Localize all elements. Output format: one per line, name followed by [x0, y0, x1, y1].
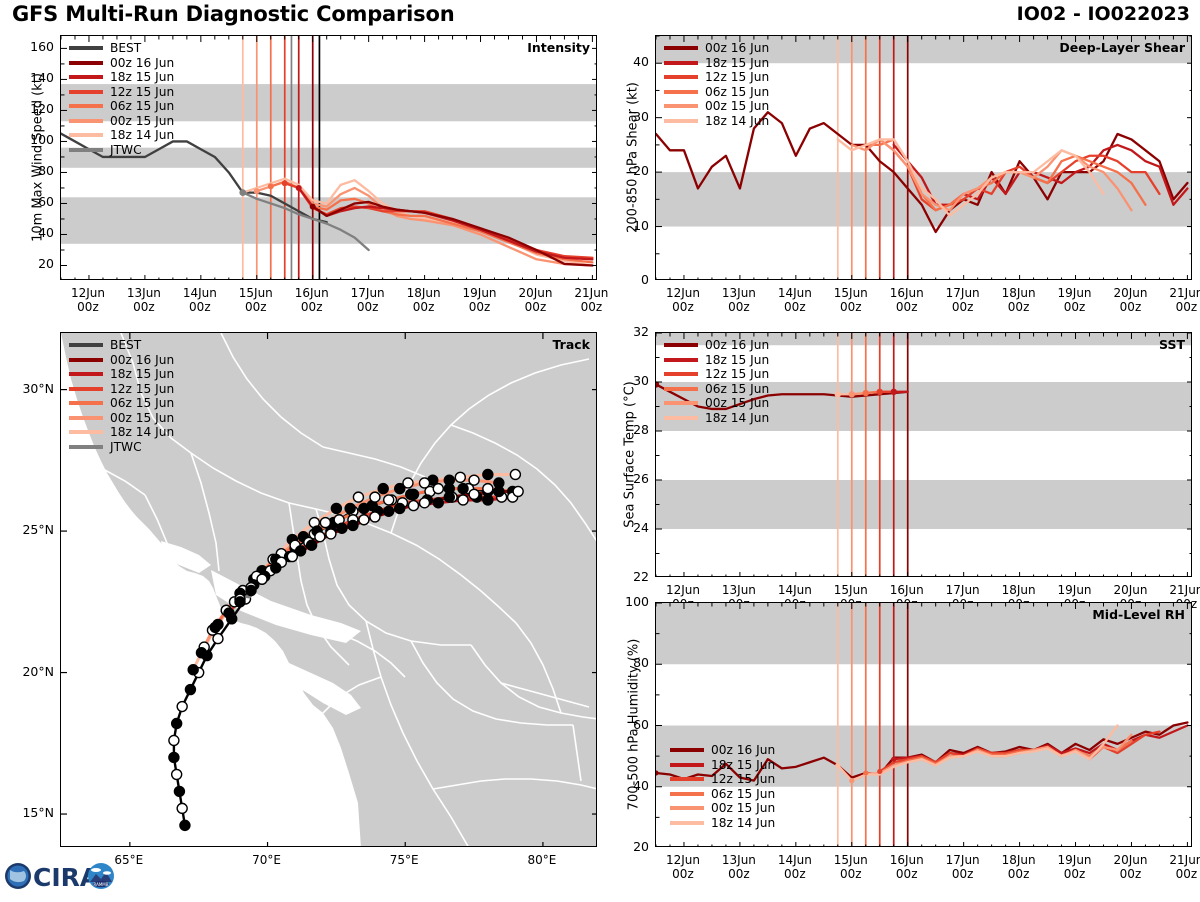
legend-swatch-run_18z14 — [69, 430, 103, 434]
x-tick-day: 14Jun — [183, 286, 217, 300]
x-tick-label: 13Jun00z — [709, 853, 769, 881]
x-tick-day: 18Jun — [407, 286, 441, 300]
x-tick-hour: 00z — [1176, 867, 1198, 881]
legend-swatch-run_18z14 — [664, 416, 698, 420]
series-marker — [282, 180, 288, 186]
intensity-panel: Intensity BEST00z 16 Jun18z 15 Jun12z 15… — [60, 35, 597, 280]
shear-panel: Deep-Layer Shear 00z 16 Jun18z 15 Jun12z… — [655, 35, 1192, 280]
legend-swatch-run_06z15 — [664, 90, 698, 94]
track-marker — [174, 786, 184, 796]
legend-item-run_00z16: 00z 16 Jun — [670, 743, 775, 758]
legend-label-run_12z15: 12z 15 Jun — [711, 772, 775, 786]
track-marker — [359, 515, 369, 525]
legend-swatch-run_18z15 — [69, 75, 103, 79]
track-marker — [370, 512, 380, 522]
legend-item-run_18z15: 18z 15 Jun — [69, 70, 174, 85]
x-tick-day: 18Jun — [1002, 286, 1036, 300]
legend-item-run_18z14: 18z 14 Jun — [664, 411, 769, 426]
y-tick-label: 100 — [14, 132, 54, 147]
y-tick-label: 60 — [609, 717, 649, 732]
x-tick-label: 16Jun00z — [877, 853, 937, 881]
track-marker — [331, 503, 341, 513]
legend-item-run_00z16: 00z 16 Jun — [664, 41, 769, 56]
legend-swatch-run_00z15 — [664, 104, 698, 108]
legend-item-run_00z15: 00z 15 Jun — [664, 396, 769, 411]
track-marker — [210, 622, 220, 632]
track-marker — [185, 685, 195, 695]
track-marker — [235, 597, 245, 607]
x-tick-label: 17Jun00z — [933, 286, 993, 314]
x-tick-day: 17Jun — [946, 583, 980, 597]
x-tick-label: 21Jun00z — [1156, 853, 1200, 881]
x-tick-day: 20Jun — [1113, 286, 1147, 300]
sst-legend: 00z 16 Jun18z 15 Jun12z 15 Jun06z 15 Jun… — [664, 338, 769, 425]
track-marker — [287, 552, 297, 562]
legend-label-run_18z15: 18z 15 Jun — [711, 758, 775, 772]
y-tick-label: 28 — [609, 422, 649, 437]
legend-item-run_06z15: 06z 15 Jun — [670, 787, 775, 802]
legend-swatch-best — [69, 343, 103, 347]
x-tick-hour: 00z — [672, 867, 694, 881]
x-tick-day: 12Jun — [666, 583, 700, 597]
x-tick-day: 12Jun — [71, 286, 105, 300]
x-tick-hour: 00z — [581, 300, 603, 314]
x-tick-day: 19Jun — [463, 286, 497, 300]
track-marker — [169, 752, 179, 762]
legend-label-run_00z16: 00z 16 Jun — [705, 338, 769, 352]
track-marker — [224, 608, 234, 618]
track-marker — [348, 520, 358, 530]
track-marker — [395, 503, 405, 513]
y-tick-label: 80 — [14, 163, 54, 178]
legend-label-run_00z15: 00z 15 Jun — [711, 801, 775, 815]
legend-label-run_18z14: 18z 14 Jun — [705, 411, 769, 425]
legend-item-run_18z15: 18z 15 Jun — [69, 367, 174, 382]
track-panel: Track BEST00z 16 Jun18z 15 Jun12z 15 Jun… — [60, 332, 597, 847]
legend-item-best: BEST — [69, 338, 174, 353]
legend-swatch-run_18z15 — [670, 763, 704, 767]
x-tick-label: 21Jun00z — [561, 286, 621, 314]
legend-label-run_18z15: 18z 15 Jun — [705, 353, 769, 367]
track-marker — [326, 529, 336, 539]
x-tick-label: 19Jun00z — [450, 286, 510, 314]
x-tick-hour: 00z — [245, 300, 267, 314]
legend-label-run_18z15: 18z 15 Jun — [110, 70, 174, 84]
track-marker — [177, 803, 187, 813]
shear-panel-title: Deep-Layer Shear — [1059, 40, 1185, 55]
series-marker — [835, 763, 840, 768]
x-tick-label: 80°E — [512, 853, 572, 867]
track-marker — [433, 484, 443, 494]
series-marker — [877, 389, 883, 395]
series-marker — [254, 188, 260, 194]
legend-item-run_18z14: 18z 14 Jun — [670, 816, 775, 831]
x-tick-label: 18Jun00z — [989, 853, 1049, 881]
track-marker — [378, 484, 388, 494]
legend-item-run_06z15: 06z 15 Jun — [69, 99, 174, 114]
x-tick-label: 13Jun00z — [709, 286, 769, 314]
x-tick-label: 15Jun00z — [226, 286, 286, 314]
legend-swatch-run_18z15 — [664, 358, 698, 362]
legend-label-run_00z15: 00z 15 Jun — [705, 396, 769, 410]
x-tick-day: 16Jun — [890, 583, 924, 597]
x-tick-label: 18Jun00z — [989, 286, 1049, 314]
x-tick-day: 13Jun — [722, 583, 756, 597]
x-tick-hour: 00z — [525, 300, 547, 314]
x-tick-hour: 00z — [952, 867, 974, 881]
track-marker — [510, 469, 520, 479]
legend-label-run_12z15: 12z 15 Jun — [705, 367, 769, 381]
series-marker — [891, 757, 896, 762]
series-marker — [863, 390, 869, 396]
x-tick-hour: 00z — [133, 300, 155, 314]
legend-label-run_18z14: 18z 14 Jun — [711, 816, 775, 830]
legend-swatch-jtwc — [69, 148, 103, 152]
legend-swatch-run_18z15 — [69, 372, 103, 376]
y-tick-label: 60 — [14, 194, 54, 209]
x-tick-day: 21Jun — [574, 286, 608, 300]
track-marker — [483, 469, 493, 479]
x-tick-label: 14Jun00z — [170, 286, 230, 314]
track-marker — [345, 503, 355, 513]
x-tick-day: 15Jun — [834, 286, 868, 300]
legend-swatch-run_12z15 — [670, 777, 704, 781]
track-marker — [353, 492, 363, 502]
x-tick-hour: 00z — [357, 300, 379, 314]
x-tick-hour: 00z — [469, 300, 491, 314]
x-tick-label: 17Jun00z — [338, 286, 398, 314]
x-tick-day: 14Jun — [778, 286, 812, 300]
track-marker — [307, 540, 317, 550]
y-tick-label: 80 — [609, 655, 649, 670]
track-marker — [420, 478, 430, 488]
track-marker — [433, 498, 443, 508]
legend-item-run_12z15: 12z 15 Jun — [670, 772, 775, 787]
legend-swatch-jtwc — [69, 445, 103, 449]
legend-item-jtwc: JTWC — [69, 143, 174, 158]
x-tick-hour: 00z — [896, 300, 918, 314]
y-tick-label: 32 — [609, 324, 649, 339]
legend-item-jtwc: JTWC — [69, 440, 174, 455]
legend-swatch-run_12z15 — [664, 75, 698, 79]
y-tick-label: 140 — [14, 70, 54, 85]
jtwc-marker — [239, 189, 246, 196]
legend-label-run_06z15: 06z 15 Jun — [711, 787, 775, 801]
y-tick-label: 120 — [14, 101, 54, 116]
track-marker — [395, 484, 405, 494]
x-tick-day: 13Jun — [127, 286, 161, 300]
track-marker — [444, 475, 454, 485]
legend-label-best: BEST — [110, 41, 141, 55]
legend-swatch-run_06z15 — [69, 104, 103, 108]
x-tick-day: 18Jun — [1002, 853, 1036, 867]
x-tick-label: 20Jun00z — [1100, 286, 1160, 314]
series-marker — [849, 778, 854, 783]
series-marker — [891, 389, 897, 395]
x-tick-day: 16Jun — [890, 853, 924, 867]
legend-label-run_06z15: 06z 15 Jun — [110, 396, 174, 410]
legend-label-run_00z15: 00z 15 Jun — [110, 114, 174, 128]
x-tick-hour: 00z — [1008, 300, 1030, 314]
legend-item-best: BEST — [69, 41, 174, 56]
x-tick-label: 20Jun00z — [505, 286, 565, 314]
legend-label-run_18z15: 18z 15 Jun — [705, 56, 769, 70]
x-tick-day: 16Jun — [890, 286, 924, 300]
x-tick-day: 13Jun — [722, 286, 756, 300]
legend-label-best: BEST — [110, 338, 141, 352]
track-panel-title: Track — [553, 337, 590, 352]
track-marker — [196, 648, 206, 658]
track-marker — [444, 492, 454, 502]
x-tick-label: 15Jun00z — [821, 853, 881, 881]
x-tick-hour: 00z — [784, 867, 806, 881]
track-marker — [469, 489, 479, 499]
track-marker — [408, 501, 418, 511]
legend-label-run_06z15: 06z 15 Jun — [705, 382, 769, 396]
track-marker — [408, 489, 418, 499]
legend-item-run_00z16: 00z 16 Jun — [664, 338, 769, 353]
x-tick-label: 15Jun00z — [821, 286, 881, 314]
x-tick-day: 15Jun — [834, 853, 868, 867]
legend-item-run_06z15: 06z 15 Jun — [664, 85, 769, 100]
track-marker — [257, 574, 267, 584]
legend-item-run_18z15: 18z 15 Jun — [664, 56, 769, 71]
legend-item-run_00z16: 00z 16 Jun — [69, 353, 174, 368]
legend-label-jtwc: JTWC — [110, 143, 142, 157]
y-tick-label: 40 — [609, 54, 649, 69]
track-marker — [359, 503, 369, 513]
y-tick-label: 30 — [609, 373, 649, 388]
x-tick-day: 19Jun — [1058, 853, 1092, 867]
y-tick-label: 40 — [609, 778, 649, 793]
x-tick-hour: 00z — [952, 300, 974, 314]
track-marker — [370, 492, 380, 502]
y-tick-label: 30°N — [2, 381, 54, 396]
legend-label-run_00z16: 00z 16 Jun — [705, 41, 769, 55]
x-tick-day: 17Jun — [351, 286, 385, 300]
x-tick-day: 16Jun — [295, 286, 329, 300]
x-tick-day: 18Jun — [1002, 583, 1036, 597]
track-marker — [513, 486, 523, 496]
x-tick-label: 14Jun00z — [765, 286, 825, 314]
y-tick-label: 22 — [609, 569, 649, 584]
x-tick-label: 12Jun00z — [58, 286, 118, 314]
y-tick-label: 20 — [609, 839, 649, 854]
x-tick-hour: 00z — [1064, 867, 1086, 881]
series-marker — [877, 769, 882, 774]
y-tick-label: 24 — [609, 520, 649, 535]
legend-item-run_18z14: 18z 14 Jun — [69, 128, 174, 143]
track-marker — [458, 495, 468, 505]
x-tick-hour: 00z — [1064, 300, 1086, 314]
x-tick-hour: 00z — [1008, 867, 1030, 881]
x-tick-day: 12Jun — [666, 853, 700, 867]
legend-swatch-run_06z15 — [664, 387, 698, 391]
x-tick-hour: 00z — [896, 867, 918, 881]
legend-item-run_06z15: 06z 15 Jun — [664, 382, 769, 397]
y-tick-label: 26 — [609, 471, 649, 486]
legend-item-run_12z15: 12z 15 Jun — [69, 85, 174, 100]
x-tick-hour: 00z — [672, 300, 694, 314]
legend-swatch-run_00z15 — [69, 119, 103, 123]
x-tick-day: 19Jun — [1058, 583, 1092, 597]
x-tick-label: 19Jun00z — [1045, 286, 1105, 314]
track-marker — [455, 472, 465, 482]
x-tick-day: 20Jun — [1113, 853, 1147, 867]
legend-swatch-run_18z14 — [670, 821, 704, 825]
legend-swatch-run_00z15 — [664, 401, 698, 405]
legend-label-run_12z15: 12z 15 Jun — [110, 85, 174, 99]
legend-label-run_00z15: 00z 15 Jun — [705, 99, 769, 113]
track-marker — [494, 486, 504, 496]
track-marker — [469, 475, 479, 485]
y-tick-label: 25°N — [2, 522, 54, 537]
track-marker — [384, 506, 394, 516]
x-tick-day: 17Jun — [946, 286, 980, 300]
storm-id: IO02 - IO022023 — [1017, 3, 1190, 25]
track-marker — [420, 498, 430, 508]
x-tick-label: 70°E — [237, 853, 297, 867]
legend-swatch-run_00z15 — [670, 806, 704, 810]
x-tick-label: 16Jun00z — [282, 286, 342, 314]
track-marker — [315, 532, 325, 542]
legend-swatch-run_00z16 — [69, 358, 103, 362]
legend-item-run_00z15: 00z 15 Jun — [664, 99, 769, 114]
track-legend: BEST00z 16 Jun18z 15 Jun12z 15 Jun06z 15… — [69, 338, 174, 454]
track-marker — [384, 495, 394, 505]
legend-item-run_18z14: 18z 14 Jun — [69, 425, 174, 440]
x-tick-hour: 00z — [301, 300, 323, 314]
y-tick-label: 10 — [609, 218, 649, 233]
track-marker — [169, 735, 179, 745]
y-tick-label: 15°N — [2, 805, 54, 820]
track-marker — [180, 820, 190, 830]
sst-panel: SST 00z 16 Jun18z 15 Jun12z 15 Jun06z 15… — [655, 332, 1192, 577]
legend-label-run_18z14: 18z 14 Jun — [705, 114, 769, 128]
legend-label-jtwc: JTWC — [110, 440, 142, 454]
track-marker — [483, 484, 493, 494]
series-marker — [268, 183, 274, 189]
x-tick-label: 12Jun00z — [653, 853, 713, 881]
legend-item-run_18z14: 18z 14 Jun — [664, 114, 769, 129]
x-tick-hour: 00z — [413, 300, 435, 314]
legend-label-run_06z15: 06z 15 Jun — [705, 85, 769, 99]
sst-panel-title: SST — [1159, 337, 1185, 352]
y-tick-label: 0 — [609, 272, 649, 287]
x-tick-label: 12Jun00z — [653, 286, 713, 314]
x-tick-label: 13Jun00z — [114, 286, 174, 314]
track-marker — [458, 484, 468, 494]
track-marker — [246, 586, 256, 596]
x-tick-day: 21Jun — [1169, 853, 1200, 867]
legend-swatch-run_18z14 — [664, 119, 698, 123]
legend-swatch-run_00z16 — [670, 748, 704, 752]
y-tick-label: 160 — [14, 39, 54, 54]
x-tick-label: 17Jun00z — [933, 853, 993, 881]
x-tick-label: 19Jun00z — [1045, 853, 1105, 881]
x-tick-label: 21Jun00z — [1156, 286, 1200, 314]
rh-panel: Mid-Level RH 00z 16 Jun18z 15 Jun12z 15 … — [655, 602, 1192, 847]
x-tick-day: 19Jun — [1058, 286, 1092, 300]
x-tick-day: 14Jun — [778, 853, 812, 867]
legend-label-run_12z15: 12z 15 Jun — [705, 70, 769, 84]
series-marker — [835, 391, 841, 397]
track-marker — [483, 495, 493, 505]
legend-item-run_00z15: 00z 15 Jun — [670, 801, 775, 816]
x-tick-day: 15Jun — [834, 583, 868, 597]
legend-swatch-run_00z16 — [664, 343, 698, 347]
track-marker — [188, 665, 198, 675]
x-tick-hour: 00z — [840, 867, 862, 881]
y-tick-label: 30 — [609, 109, 649, 124]
legend-swatch-run_12z15 — [69, 387, 103, 391]
x-tick-day: 21Jun — [1169, 583, 1200, 597]
legend-label-run_18z14: 18z 14 Jun — [110, 128, 174, 142]
series-marker — [863, 770, 868, 775]
x-tick-day: 15Jun — [239, 286, 273, 300]
legend-label-run_18z14: 18z 14 Jun — [110, 425, 174, 439]
legend-swatch-run_00z15 — [69, 416, 103, 420]
x-tick-hour: 00z — [1120, 867, 1142, 881]
series-marker — [310, 204, 316, 210]
intensity-panel-title: Intensity — [527, 40, 590, 55]
legend-swatch-run_00z16 — [664, 46, 698, 50]
legend-item-run_00z15: 00z 15 Jun — [69, 411, 174, 426]
legend-swatch-run_06z15 — [670, 792, 704, 796]
legend-item-run_12z15: 12z 15 Jun — [69, 382, 174, 397]
legend-label-run_06z15: 06z 15 Jun — [110, 99, 174, 113]
legend-swatch-run_12z15 — [664, 372, 698, 376]
legend-item-run_12z15: 12z 15 Jun — [664, 70, 769, 85]
legend-swatch-run_06z15 — [69, 401, 103, 405]
x-tick-day: 21Jun — [1169, 286, 1200, 300]
x-tick-day: 20Jun — [518, 286, 552, 300]
x-tick-hour: 00z — [189, 300, 211, 314]
track-marker — [271, 563, 281, 573]
x-tick-hour: 00z — [728, 300, 750, 314]
legend-swatch-best — [69, 46, 103, 50]
x-tick-hour: 00z — [77, 300, 99, 314]
track-marker — [337, 523, 347, 533]
x-tick-label: 18Jun00z — [394, 286, 454, 314]
x-tick-day: 13Jun — [722, 853, 756, 867]
shaded-band — [656, 480, 1192, 529]
series-marker — [296, 185, 302, 191]
legend-swatch-run_18z15 — [664, 61, 698, 65]
x-tick-day: 14Jun — [778, 583, 812, 597]
legend-label-run_00z15: 00z 15 Jun — [110, 411, 174, 425]
series-marker — [849, 391, 855, 397]
x-tick-hour: 00z — [784, 300, 806, 314]
legend-item-run_18z15: 18z 15 Jun — [664, 353, 769, 368]
x-tick-label: 75°E — [374, 853, 434, 867]
legend-item-run_18z15: 18z 15 Jun — [670, 758, 775, 773]
x-tick-hour: 00z — [1176, 300, 1198, 314]
legend-label-run_00z16: 00z 16 Jun — [711, 743, 775, 757]
x-tick-hour: 00z — [728, 867, 750, 881]
legend-swatch-run_18z14 — [69, 133, 103, 137]
intensity-legend: BEST00z 16 Jun18z 15 Jun12z 15 Jun06z 15… — [69, 41, 174, 157]
legend-item-run_06z15: 06z 15 Jun — [69, 396, 174, 411]
legend-label-run_00z16: 00z 16 Jun — [110, 353, 174, 367]
x-tick-day: 20Jun — [1113, 583, 1147, 597]
track-marker — [172, 769, 182, 779]
svg-text:RAMMB: RAMMB — [94, 882, 109, 887]
legend-item-run_12z15: 12z 15 Jun — [664, 367, 769, 382]
legend-swatch-run_00z16 — [69, 61, 103, 65]
x-tick-label: 20Jun00z — [1100, 853, 1160, 881]
x-tick-label: 16Jun00z — [877, 286, 937, 314]
